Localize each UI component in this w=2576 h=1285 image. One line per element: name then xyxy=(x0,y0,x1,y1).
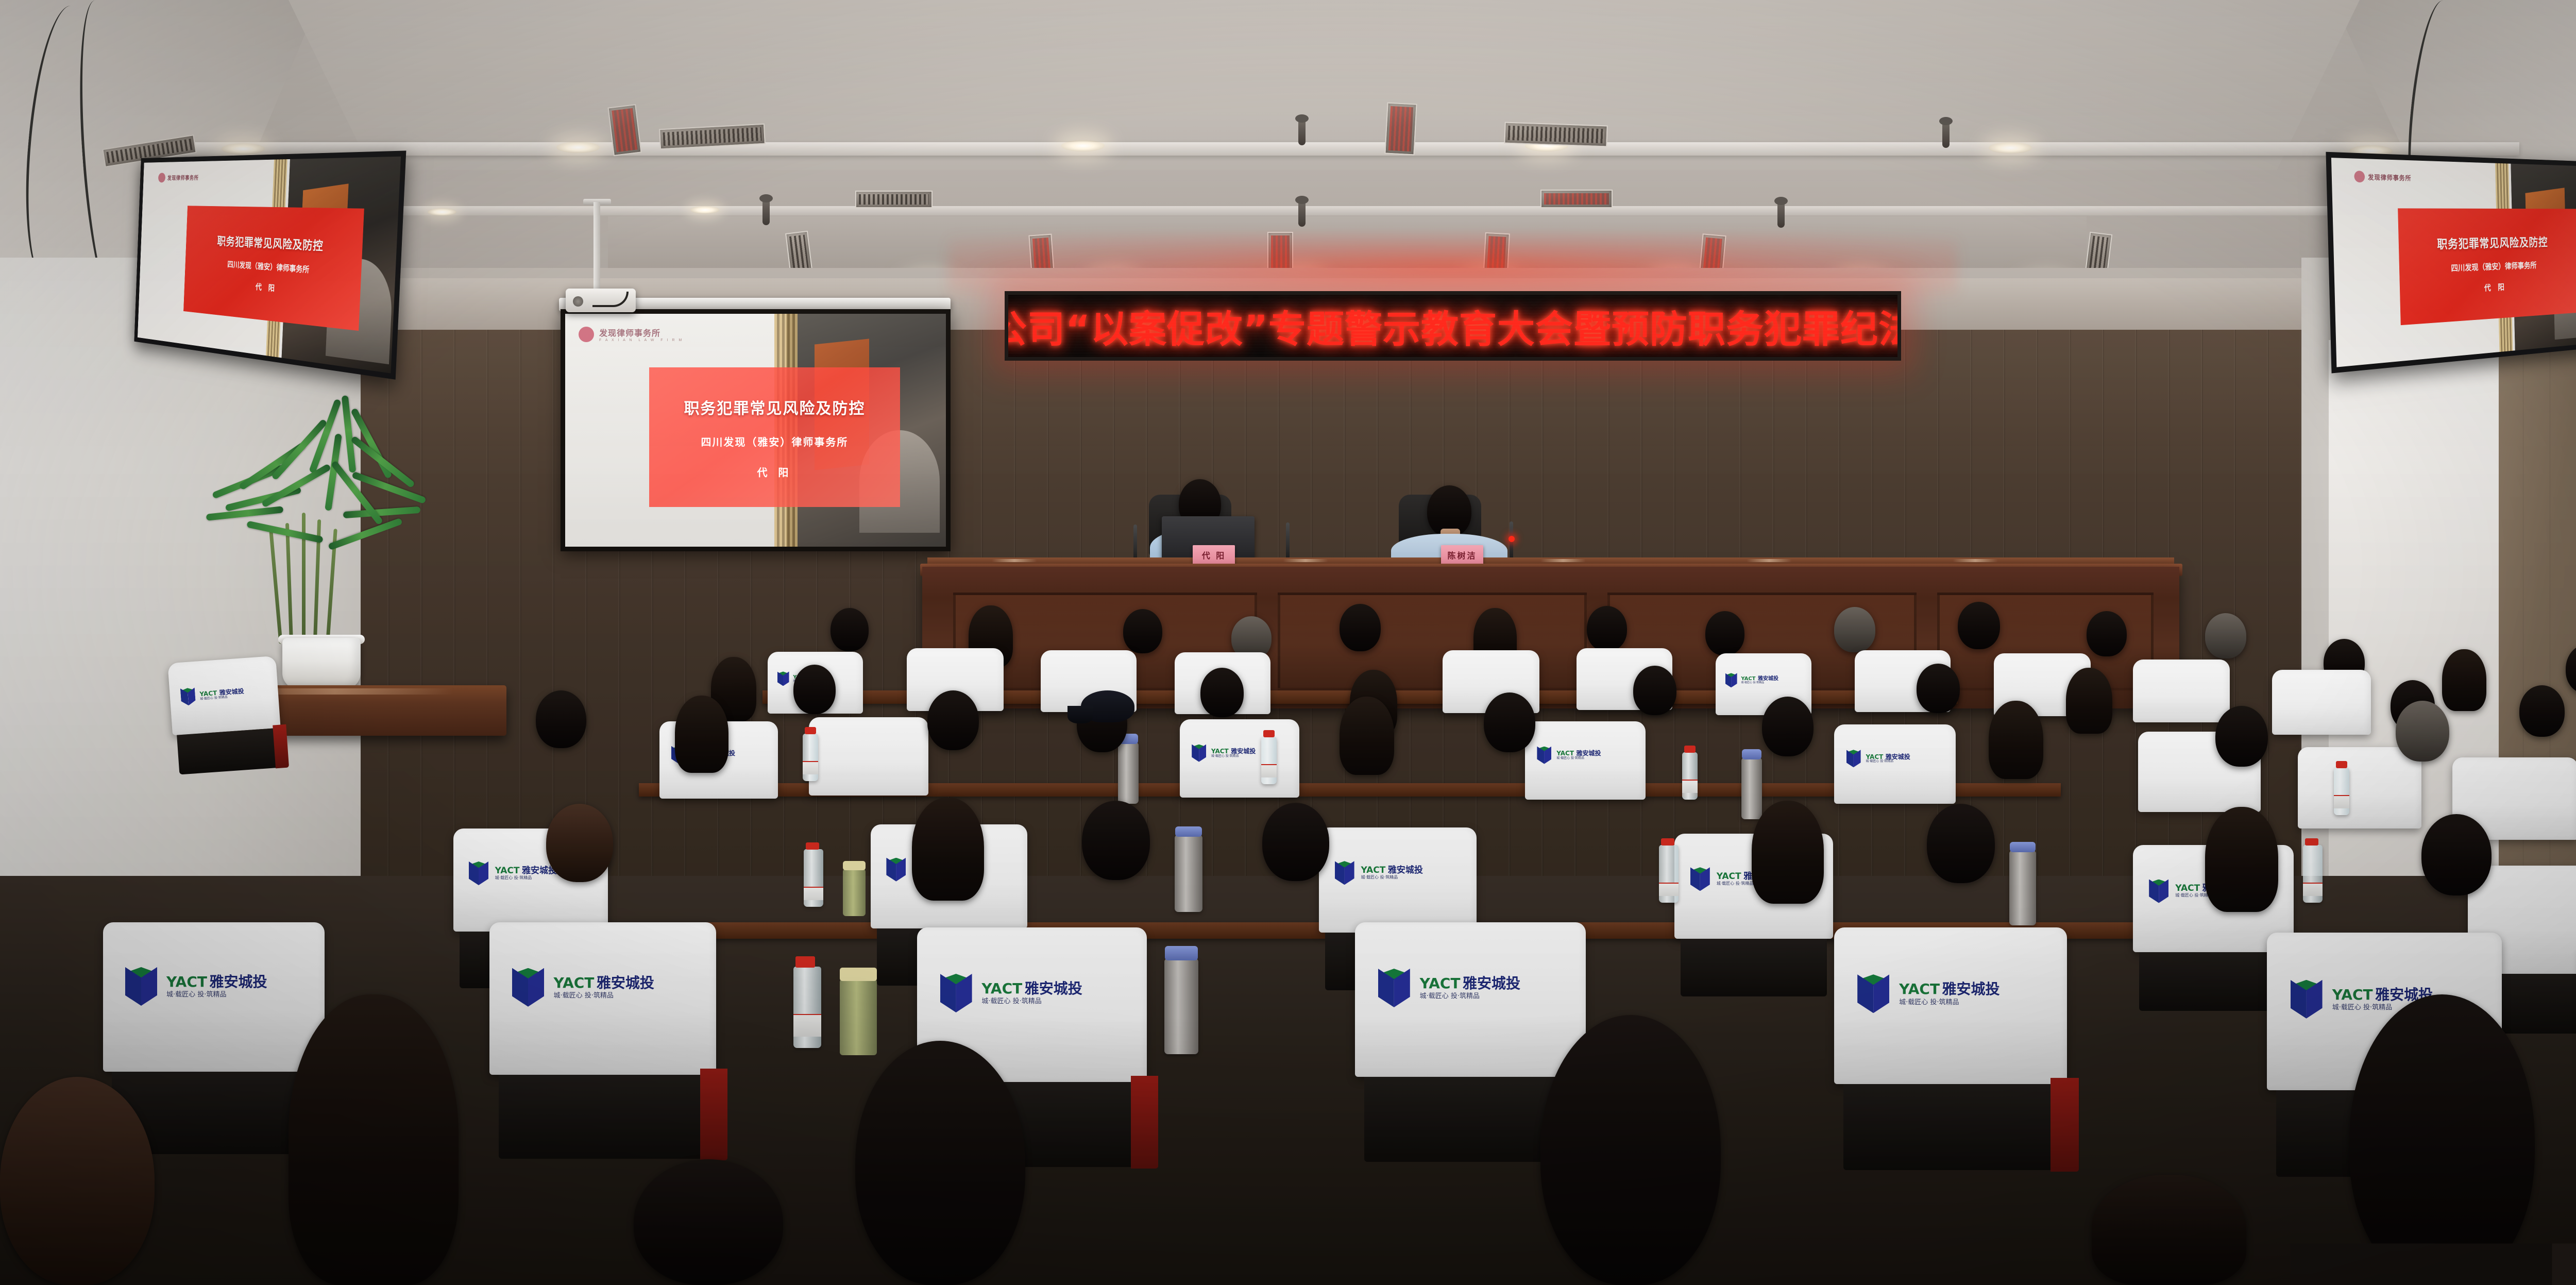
bottle-label xyxy=(1682,780,1698,793)
chair-logo-tagline: 城·载匠心 投·筑精品 xyxy=(1866,760,1910,763)
firm-logo-text: 发现律师事务所 xyxy=(2368,172,2412,182)
yact-cube-icon xyxy=(1725,673,1737,687)
chair-logo-latin: YACT xyxy=(495,867,520,876)
chair-cover-logo: YACT 雅安城投 城·载匠心 投·筑精品 xyxy=(1537,747,1638,764)
plant-frond xyxy=(342,395,357,473)
audience-seat: YACT 雅安城投 城·载匠心 投·筑精品 xyxy=(1319,827,1477,933)
yact-cube-icon xyxy=(2291,980,2323,1019)
chair-logo-latin: YACT xyxy=(981,981,1022,996)
water-bottle xyxy=(793,967,821,1048)
water-bottle xyxy=(803,734,818,781)
ceiling-speaker xyxy=(1777,201,1785,228)
water-bottle xyxy=(1659,845,1679,903)
attendee-head xyxy=(2205,613,2246,658)
vacuum-flask xyxy=(1741,757,1762,819)
tv-slide-title-block: 职务犯罪常见风险及防控 四川发现（雅安）律师事务所 代 阳 xyxy=(2398,208,2576,325)
table-reflection xyxy=(1283,559,1328,562)
projector-lens-icon xyxy=(573,296,583,307)
yact-cube-icon xyxy=(1846,750,1861,767)
table-reflection xyxy=(1540,559,1586,562)
chair-logo-latin: YACT xyxy=(166,974,207,989)
yact-cube-icon xyxy=(1335,861,1354,885)
ceiling-downlight xyxy=(222,143,265,155)
chair-backrest xyxy=(2139,952,2287,1011)
chair-cover-logo: YACT 雅安城投 城·载匠心 投·筑精品 xyxy=(1846,750,1948,767)
flask-cap-icon xyxy=(1175,826,1202,837)
chair-logo-latin: YACT xyxy=(1899,982,1940,996)
water-bottle xyxy=(2334,768,2349,815)
chair-cover-logo: YACT 雅安城投 城·载匠心 投·筑精品 xyxy=(180,682,272,706)
attendee-head xyxy=(1633,666,1676,715)
attendee-head xyxy=(675,696,728,773)
water-bottle xyxy=(804,849,823,907)
foreground-attendee-head xyxy=(2349,994,2535,1285)
bottle-cap-icon xyxy=(2336,761,2347,768)
ceiling-downlight xyxy=(556,142,600,153)
plant-stalk xyxy=(285,523,293,644)
yact-cube-icon xyxy=(512,968,544,1007)
chair-logo-tagline: 城·载匠心 投·筑精品 xyxy=(981,998,1082,1005)
chair-cover-logo: YACT 雅安城投 城·载匠心 投·筑精品 xyxy=(1857,974,2053,1013)
tea-tumbler xyxy=(840,979,877,1055)
tv-slide-title: 职务犯罪常见风险及防控 xyxy=(217,232,324,254)
projection-screen-surface: 发现律师事务所 F A X I A N L A W F I R M 职务犯罪常见… xyxy=(565,314,946,547)
chair-cover-logo: YACT 雅安城投 城·载匠心 投·筑精品 xyxy=(512,968,703,1007)
foreground-attendee-head xyxy=(289,994,459,1285)
table-reflection xyxy=(1953,559,1998,562)
audience-seat: YACT 雅安城投 城·载匠心 投·筑精品 xyxy=(1834,927,2067,1084)
air-vent xyxy=(1384,103,1417,156)
foreground-attendee-head xyxy=(855,1041,1025,1285)
audience-seat: YACT 雅安城投 城·载匠心 投·筑精品 xyxy=(489,922,716,1075)
stage-panel-inset xyxy=(1278,593,1587,690)
slide-organization: 四川发现（雅安）律师事务所 xyxy=(701,434,848,449)
chair-logo-chinese: 雅安城投 xyxy=(597,975,654,990)
yact-cube-icon xyxy=(886,858,906,882)
plant-stalk xyxy=(269,531,282,644)
attendee-head xyxy=(1262,803,1329,881)
nameplate-host-text: 陈树洁 xyxy=(1447,549,1477,561)
chair-logo-tagline: 城·载匠心 投·筑精品 xyxy=(1899,999,1999,1006)
firm-logo-pinyin: F A X I A N L A W F I R M xyxy=(599,339,683,342)
chair-logo-chinese: 雅安城投 xyxy=(1388,866,1423,875)
chair-logo-latin: YACT xyxy=(2332,987,2373,1002)
side-chair: YACT 雅安城投 城·载匠心 投·筑精品 xyxy=(167,656,280,735)
foreground-attendee-head xyxy=(634,1159,783,1285)
table-reflection xyxy=(992,559,1037,562)
ceiling-downlight xyxy=(1989,142,2032,154)
air-vent xyxy=(855,191,933,208)
slide-presenter: 代 阳 xyxy=(757,464,792,479)
yact-cube-icon xyxy=(1378,969,1410,1007)
chair-logo-tagline: 城·载匠心 投·筑精品 xyxy=(1556,757,1601,760)
bottle-cap-icon xyxy=(1684,746,1696,753)
chair-logo-tagline: 城·载匠心 投·筑精品 xyxy=(495,876,557,880)
attendee-head xyxy=(1927,804,1995,883)
yact-cube-icon xyxy=(2149,880,2168,903)
bottle-cap-icon xyxy=(1661,838,1674,846)
attendee-head xyxy=(793,665,836,714)
chair-backrest xyxy=(1843,1084,2058,1170)
bottle-label xyxy=(2334,795,2349,808)
attendee-head xyxy=(1340,604,1381,651)
chair-red-side xyxy=(2050,1078,2078,1172)
yact-cube-icon xyxy=(469,861,488,885)
left-wall-tv: 发现律师事务所 职务犯罪常见风险及防控 四川发现（雅安）律师事务所 代 阳 xyxy=(134,150,406,379)
air-vent xyxy=(607,104,641,156)
yact-cube-icon xyxy=(940,974,972,1012)
chair-backrest xyxy=(499,1075,707,1159)
slide-title-block: 职务犯罪常见风险及防控 四川发现（雅安）律师事务所 代 阳 xyxy=(649,367,901,507)
yact-cube-icon xyxy=(125,967,157,1006)
projector-mount-pole xyxy=(594,202,600,293)
attendee-head xyxy=(831,608,869,651)
chair-cover-logo: YACT 雅安城投 城·载匠心 投·筑精品 xyxy=(1335,861,1467,885)
attendee-head xyxy=(1705,611,1744,655)
foreground-attendee-head xyxy=(0,1077,155,1285)
right-tv-screen: 发现律师事务所 职务犯罪常见风险及防控 四川发现（雅安）律师事务所 代 阳 xyxy=(2331,158,2576,367)
flask-cap-icon xyxy=(1165,946,1198,960)
chair-backrest xyxy=(177,728,279,774)
chair-logo-chinese: 雅安城投 xyxy=(1577,750,1601,757)
attendee-head xyxy=(2519,685,2565,737)
audience-seat: YACT 雅安城投 城·载匠心 投·筑精品 xyxy=(103,922,325,1072)
chair-logo-tagline: 城·载匠心 投·筑精品 xyxy=(1420,993,1520,1000)
chair-cover-logo: YACT 雅安城投 城·载匠心 投·筑精品 xyxy=(1378,969,1572,1007)
chair-cover-logo: YACT 雅安城投 城·载匠心 投·筑精品 xyxy=(125,967,311,1006)
slide-title: 职务犯罪常见风险及防控 xyxy=(684,396,865,418)
right-wall-tv: 发现律师事务所 职务犯罪常见风险及防控 四川发现（雅安）律师事务所 代 阳 xyxy=(2326,152,2576,374)
chair-logo-tagline: 城·载匠心 投·筑精品 xyxy=(1361,875,1422,880)
attendee-head xyxy=(2442,649,2486,711)
audience-seat: YACT 雅安城投 城·载匠心 投·筑精品 xyxy=(1180,719,1299,798)
yact-cube-icon xyxy=(1857,974,1889,1013)
attendee-head xyxy=(1123,609,1162,653)
chair-cover-logo: YACT 雅安城投 城·载匠心 投·筑精品 xyxy=(1192,745,1292,762)
vacuum-flask xyxy=(2009,850,2036,925)
ceiling-speaker xyxy=(762,198,770,225)
audience-seat xyxy=(2272,670,2371,735)
vacuum-flask xyxy=(1164,958,1198,1054)
chair-logo-tagline: 城·载匠心 投·筑精品 xyxy=(166,991,267,999)
ceiling-downlight xyxy=(428,208,456,216)
water-bottle xyxy=(1682,752,1698,800)
chair-logo-chinese: 雅安城投 xyxy=(1231,748,1256,755)
bottle-cap-icon xyxy=(806,842,819,850)
audience-seat: YACT 雅安城投 城·载匠心 投·筑精品 xyxy=(1834,724,1956,804)
attendee-head xyxy=(1587,606,1627,651)
bottle-label xyxy=(804,887,823,900)
attendee-head xyxy=(1200,668,1244,717)
plant-frond xyxy=(246,521,323,544)
chair-logo-tagline: 城·载匠心 投·筑精品 xyxy=(553,992,654,1000)
attendee-head xyxy=(546,804,613,882)
ceiling-downlight xyxy=(690,206,719,214)
ceiling-speaker xyxy=(1298,119,1306,145)
plant-frond xyxy=(206,506,284,521)
conference-hall-photo: 城投公司“以案促改”专题警示教育大会暨预防职务犯罪纪法讲座 发现律师事务所 F … xyxy=(0,0,2576,1285)
attendee-head xyxy=(1917,664,1960,713)
chair-logo-chinese: 雅安城投 xyxy=(209,974,267,989)
attendee-head xyxy=(2205,807,2278,912)
chair-logo-chinese: 雅安城投 xyxy=(1025,981,1082,996)
chair-logo-chinese: 雅安城投 xyxy=(1942,982,2000,996)
chair-red-side xyxy=(700,1069,727,1160)
firm-logo-mark-icon xyxy=(158,173,165,183)
chair-logo-latin: YACT xyxy=(1717,872,1741,882)
air-vent xyxy=(1540,190,1613,208)
foreground-attendee-head xyxy=(2092,1175,2246,1285)
attendee-head xyxy=(536,690,586,748)
firm-logo-mark-icon xyxy=(579,327,594,342)
nameplate-presenter: 代 阳 xyxy=(1193,545,1235,565)
audience-seat: YACT 雅安城投 城·载匠心 投·筑精品 xyxy=(1355,922,1586,1077)
tv-firm-logo: 发现律师事务所 xyxy=(2354,171,2412,184)
tv-slide-title-block: 职务犯罪常见风险及防控 四川发现（雅安）律师事务所 代 阳 xyxy=(183,206,364,331)
chair-logo-text: YACT 雅安城投 城·载匠心 投·筑精品 xyxy=(199,688,244,701)
tv-slide-organization: 四川发现（雅安）律师事务所 xyxy=(227,258,310,275)
tv-firm-logo: 发现律师事务所 xyxy=(158,173,199,183)
chair-logo-latin: YACT xyxy=(1211,748,1229,755)
attendee-head xyxy=(1752,801,1824,904)
led-banner-text: 城投公司“以案促改”专题警示教育大会暨预防职务犯罪纪法讲座 xyxy=(1005,299,1901,353)
left-tv-screen: 发现律师事务所 职务犯罪常见风险及防控 四川发现（雅安）律师事务所 代 阳 xyxy=(138,157,401,374)
bottle-label xyxy=(793,1014,821,1037)
potted-plant xyxy=(180,402,469,644)
chair-logo-latin: YACT xyxy=(1361,866,1385,875)
table-reflection xyxy=(1747,559,1792,562)
attendee-head xyxy=(2215,706,2268,767)
plant-frond xyxy=(328,518,402,551)
bottle-cap-icon xyxy=(2305,838,2318,846)
bottle-label xyxy=(1659,883,1679,896)
chair-logo-tagline: 城·载匠心 投·筑精品 xyxy=(1741,682,1778,684)
chair-logo-latin: YACT xyxy=(553,975,594,990)
tumbler-cap-icon xyxy=(840,968,877,981)
plant-pot xyxy=(282,638,361,689)
vacuum-flask xyxy=(1175,835,1202,912)
tumbler-cap-icon xyxy=(843,861,866,870)
yact-cube-icon xyxy=(1537,747,1551,764)
ceiling-speaker xyxy=(1942,121,1950,148)
flask-cap-icon xyxy=(1742,749,1761,759)
yact-cube-icon xyxy=(1192,745,1206,762)
table-microphone xyxy=(1133,525,1137,563)
baseball-cap-brim xyxy=(1067,706,1093,723)
attendee-head xyxy=(1762,697,1814,756)
tv-slide-title: 职务犯罪常见风险及防控 xyxy=(2437,233,2548,252)
air-vent xyxy=(1504,122,1607,147)
attendee-head xyxy=(1989,701,2043,779)
water-bottle xyxy=(1261,737,1277,784)
bottle-label xyxy=(1261,764,1277,777)
chair-logo-latin: YACT xyxy=(1420,976,1461,991)
audience-seat xyxy=(2298,747,2421,829)
nameplate-host: 陈树洁 xyxy=(1441,545,1483,565)
firm-logo-mark-icon xyxy=(2354,171,2365,183)
chair-logo-latin: YACT xyxy=(1556,750,1574,757)
attendee-head xyxy=(1340,697,1394,775)
firm-logo-text: 发现律师事务所 xyxy=(599,326,683,339)
chair-backrest xyxy=(1681,939,1826,996)
attendee-head xyxy=(1082,801,1150,880)
bottle-cap-icon xyxy=(805,727,816,734)
yact-cube-icon xyxy=(1690,867,1710,891)
plant-frond xyxy=(343,506,421,518)
water-bottle xyxy=(2303,845,2323,903)
audience-seat xyxy=(2133,660,2230,722)
foreground-attendee-head xyxy=(1540,1015,1721,1285)
nameplate-presenter-text: 代 阳 xyxy=(1202,549,1226,561)
tv-slide-organization: 四川发现（雅安）律师事务所 xyxy=(2451,259,2536,273)
attendee-head xyxy=(2396,701,2449,762)
microphone-active-indicator xyxy=(1509,536,1515,542)
ceiling-downlight xyxy=(1061,140,1105,151)
audience-seat: YACT 雅安城投 城·载匠心 投·筑精品 xyxy=(1525,721,1646,800)
tv-slide-presenter: 代 阳 xyxy=(255,280,277,294)
attendee-head xyxy=(1834,607,1875,652)
firm-logo-text: 发现律师事务所 xyxy=(167,173,199,181)
bottle-cap-icon xyxy=(1263,730,1275,737)
bottle-label xyxy=(803,761,818,774)
attendee-head xyxy=(927,690,979,750)
chair-logo-chinese: 雅安城投 xyxy=(1463,976,1520,991)
slide-firm-logo: 发现律师事务所 F A X I A N L A W F I R M xyxy=(579,326,683,342)
attendee-head xyxy=(1958,602,2000,649)
bottle-cap-icon xyxy=(795,956,815,968)
attendee-head xyxy=(2066,668,2112,734)
led-banner: 城投公司“以案促改”专题警示教育大会暨预防职务犯罪纪法讲座 xyxy=(1005,291,1901,361)
tea-tumbler xyxy=(843,869,866,916)
projection-screen: 发现律师事务所 F A X I A N L A W F I R M 职务犯罪常见… xyxy=(561,309,951,551)
chair-red-side xyxy=(1131,1076,1159,1169)
attendee-head xyxy=(912,798,984,901)
yact-cube-icon xyxy=(777,671,789,686)
vacuum-flask xyxy=(1118,742,1139,804)
attendee-head xyxy=(1484,692,1535,752)
chair-logo-latin: YACT xyxy=(2175,884,2200,893)
table-microphone xyxy=(1286,522,1290,562)
yact-cube-icon xyxy=(180,687,196,706)
flask-cap-icon xyxy=(2010,842,2036,852)
chair-logo-tagline: 城·载匠心 投·筑精品 xyxy=(1211,755,1256,758)
attendee-head xyxy=(2421,814,2492,895)
tv-slide-presenter: 代 阳 xyxy=(2484,280,2507,293)
chair-cover-logo: YACT 雅安城投 城·载匠心 投·筑精品 xyxy=(1725,673,1806,687)
bottle-label xyxy=(2303,883,2323,896)
ceiling-light-cove-1 xyxy=(170,142,2519,156)
chair-cover-logo: YACT 雅安城投 城·载匠心 投·筑精品 xyxy=(940,974,1133,1012)
attendee-head xyxy=(2087,611,2127,656)
ceiling-light-cove-2 xyxy=(206,206,2488,215)
audience-seat xyxy=(809,717,928,796)
ceiling-speaker xyxy=(1298,200,1306,227)
